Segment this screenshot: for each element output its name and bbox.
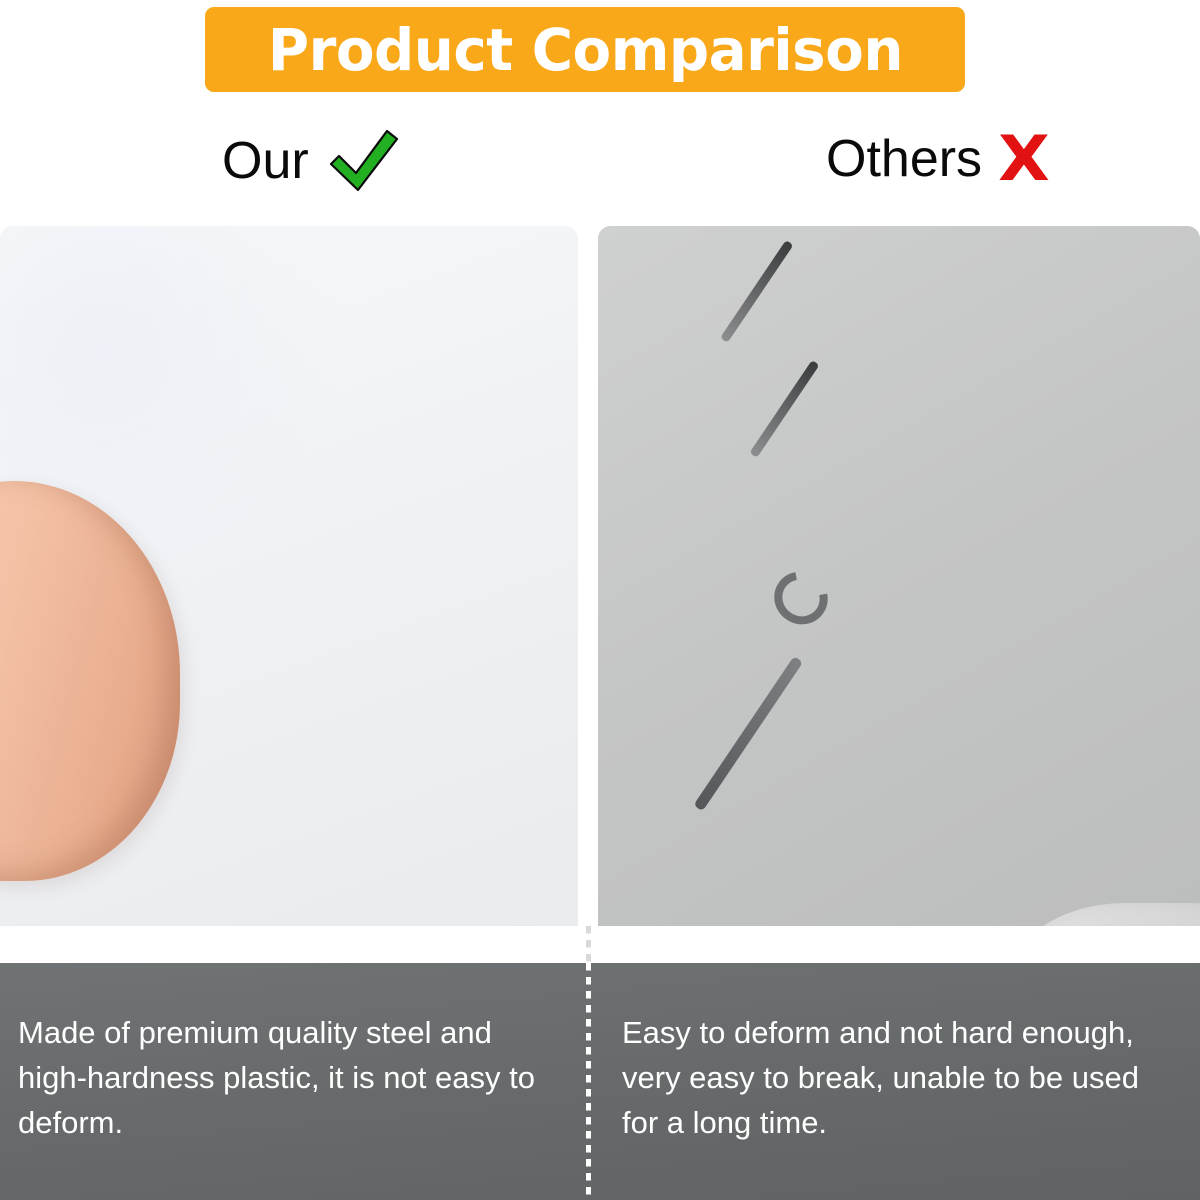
product-photo-ours	[0, 226, 578, 926]
column-label-others: Others X	[826, 128, 1048, 190]
upper-finger	[1018, 903, 1200, 926]
caption-bar: Made of premium quality steel and high-h…	[0, 963, 1200, 1200]
title-banner: Product Comparison	[205, 7, 965, 92]
wire-shaft	[693, 656, 803, 811]
title-banner-area: Product Comparison	[0, 0, 1200, 105]
left-hand	[0, 481, 180, 881]
product-photo-others	[598, 226, 1200, 926]
column-label-ours: Our	[222, 128, 401, 194]
wire-prong	[720, 240, 793, 343]
column-labels: Our Others X	[0, 128, 1200, 223]
wire-fork-loop	[764, 561, 838, 634]
caption-others: Easy to deform and not hard enough, very…	[610, 963, 1200, 1200]
caption-ours: Made of premium quality steel and high-h…	[0, 963, 578, 1200]
dotted-divider	[586, 963, 591, 1200]
ours-label: Our	[222, 135, 309, 187]
others-label: Others	[826, 133, 982, 185]
x-icon: X	[998, 128, 1050, 190]
check-icon	[327, 128, 401, 194]
comparison-photos	[0, 226, 1200, 926]
dotted-divider-top	[586, 926, 591, 964]
wire-prong	[749, 360, 819, 458]
caption-others-text: Easy to deform and not hard enough, very…	[622, 1011, 1174, 1146]
page-title: Product Comparison	[267, 21, 902, 79]
caption-ours-text: Made of premium quality steel and high-h…	[18, 1011, 552, 1146]
